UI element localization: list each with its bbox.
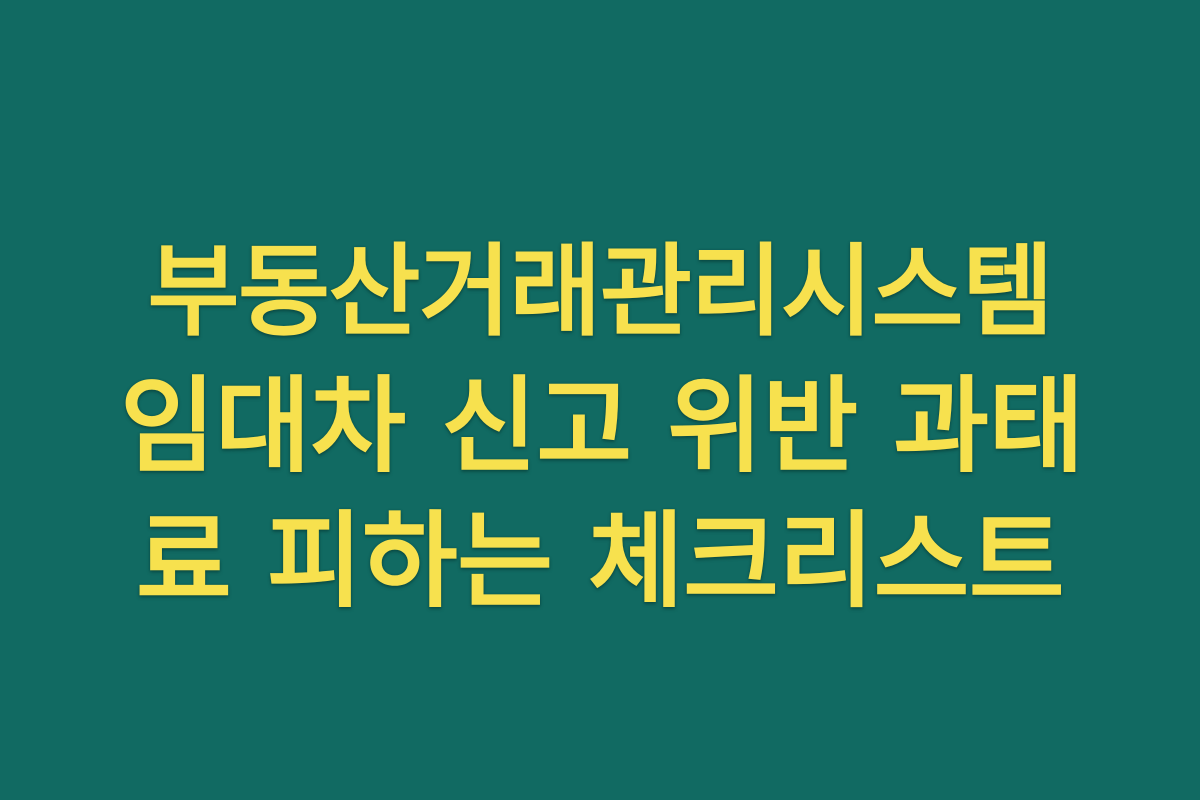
page-title: 부동산거래관리시스템 임대차 신고 위반 과태 료 피하는 체크리스트 <box>120 224 1080 629</box>
title-card: 부동산거래관리시스템 임대차 신고 위반 과태 료 피하는 체크리스트 <box>0 0 1200 800</box>
title-line-1: 부동산거래관리시스템 <box>120 224 1080 359</box>
title-line-2: 임대차 신고 위반 과태 <box>120 359 1080 494</box>
title-line-3: 료 피하는 체크리스트 <box>120 494 1080 629</box>
